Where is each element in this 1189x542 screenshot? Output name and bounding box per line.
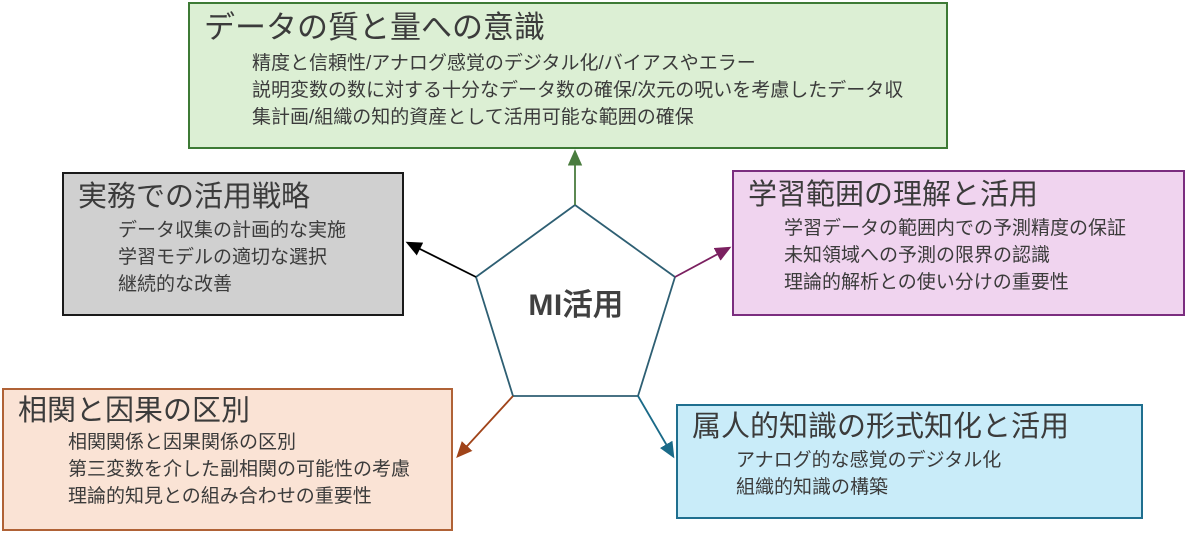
box-line: 組織的知識の構築 bbox=[736, 475, 1141, 502]
box-practical-strategy-lines: データ収集の計画的な実施 学習モデルの適切な選択 継続的な改善 bbox=[118, 218, 402, 299]
box-line: 相関関係と因果関係の区別 bbox=[68, 430, 451, 457]
arrow-to-learning-scope bbox=[675, 248, 729, 277]
diagram-canvas: MI活用 データの質と量への意識 精度と信頼性/アナログ感覚のデジタル化/バイア… bbox=[0, 0, 1189, 542]
arrow-to-practical-strategy bbox=[408, 243, 476, 277]
box-line: 理論的知見との組み合わせの重要性 bbox=[68, 484, 451, 511]
box-line: 継続的な改善 bbox=[118, 272, 402, 299]
box-tacit-knowledge-lines: アナログ的な感覚のデジタル化 組織的知識の構築 bbox=[736, 448, 1141, 502]
box-tacit-knowledge-title: 属人的知識の形式知化と活用 bbox=[692, 410, 1141, 444]
box-line: アナログ的な感覚のデジタル化 bbox=[736, 448, 1141, 475]
box-learning-scope[interactable]: 学習範囲の理解と活用 学習データの範囲内での予測精度の保証 未知領域への予測の限… bbox=[732, 170, 1185, 316]
center-label: MI活用 bbox=[476, 280, 676, 324]
box-correlation-causation-lines: 相関関係と因果関係の区別 第三変数を介した副相関の可能性の考慮 理論的知見との組… bbox=[68, 430, 451, 511]
box-data-quality-title: データの質と量への意識 bbox=[204, 10, 946, 47]
box-data-quality[interactable]: データの質と量への意識 精度と信頼性/アナログ感覚のデジタル化/バイアスやエラー… bbox=[188, 2, 948, 149]
arrow-to-tacit-knowledge bbox=[638, 396, 673, 456]
box-line: 集計画/組織の知的資産として活用可能な範囲の確保 bbox=[252, 105, 946, 132]
box-line: 未知領域への予測の限界の認識 bbox=[784, 243, 1183, 270]
box-data-quality-lines: 精度と信頼性/アナログ感覚のデジタル化/バイアスやエラー 説明変数の数に対する十… bbox=[252, 51, 946, 132]
arrow-to-correlation-causation bbox=[458, 396, 513, 456]
box-line: データ収集の計画的な実施 bbox=[118, 218, 402, 245]
box-line: 説明変数の数に対する十分なデータ数の確保/次元の呪いを考慮したデータ収 bbox=[252, 78, 946, 105]
box-line: 学習モデルの適切な選択 bbox=[118, 245, 402, 272]
box-line: 第三変数を介した副相関の可能性の考慮 bbox=[68, 457, 451, 484]
box-practical-strategy-title: 実務での活用戦略 bbox=[78, 180, 402, 214]
box-correlation-causation-title: 相関と因果の区別 bbox=[18, 394, 451, 428]
box-practical-strategy[interactable]: 実務での活用戦略 データ収集の計画的な実施 学習モデルの適切な選択 継続的な改善 bbox=[62, 172, 404, 316]
box-line: 理論的解析との使い分けの重要性 bbox=[784, 270, 1183, 297]
box-learning-scope-title: 学習範囲の理解と活用 bbox=[748, 178, 1183, 212]
box-tacit-knowledge[interactable]: 属人的知識の形式知化と活用 アナログ的な感覚のデジタル化 組織的知識の構築 bbox=[676, 404, 1143, 519]
box-line: 精度と信頼性/アナログ感覚のデジタル化/バイアスやエラー bbox=[252, 51, 946, 78]
box-correlation-causation[interactable]: 相関と因果の区別 相関関係と因果関係の区別 第三変数を介した副相関の可能性の考慮… bbox=[2, 388, 453, 531]
box-learning-scope-lines: 学習データの範囲内での予測精度の保証 未知領域への予測の限界の認識 理論的解析と… bbox=[784, 216, 1183, 297]
box-line: 学習データの範囲内での予測精度の保証 bbox=[784, 216, 1183, 243]
